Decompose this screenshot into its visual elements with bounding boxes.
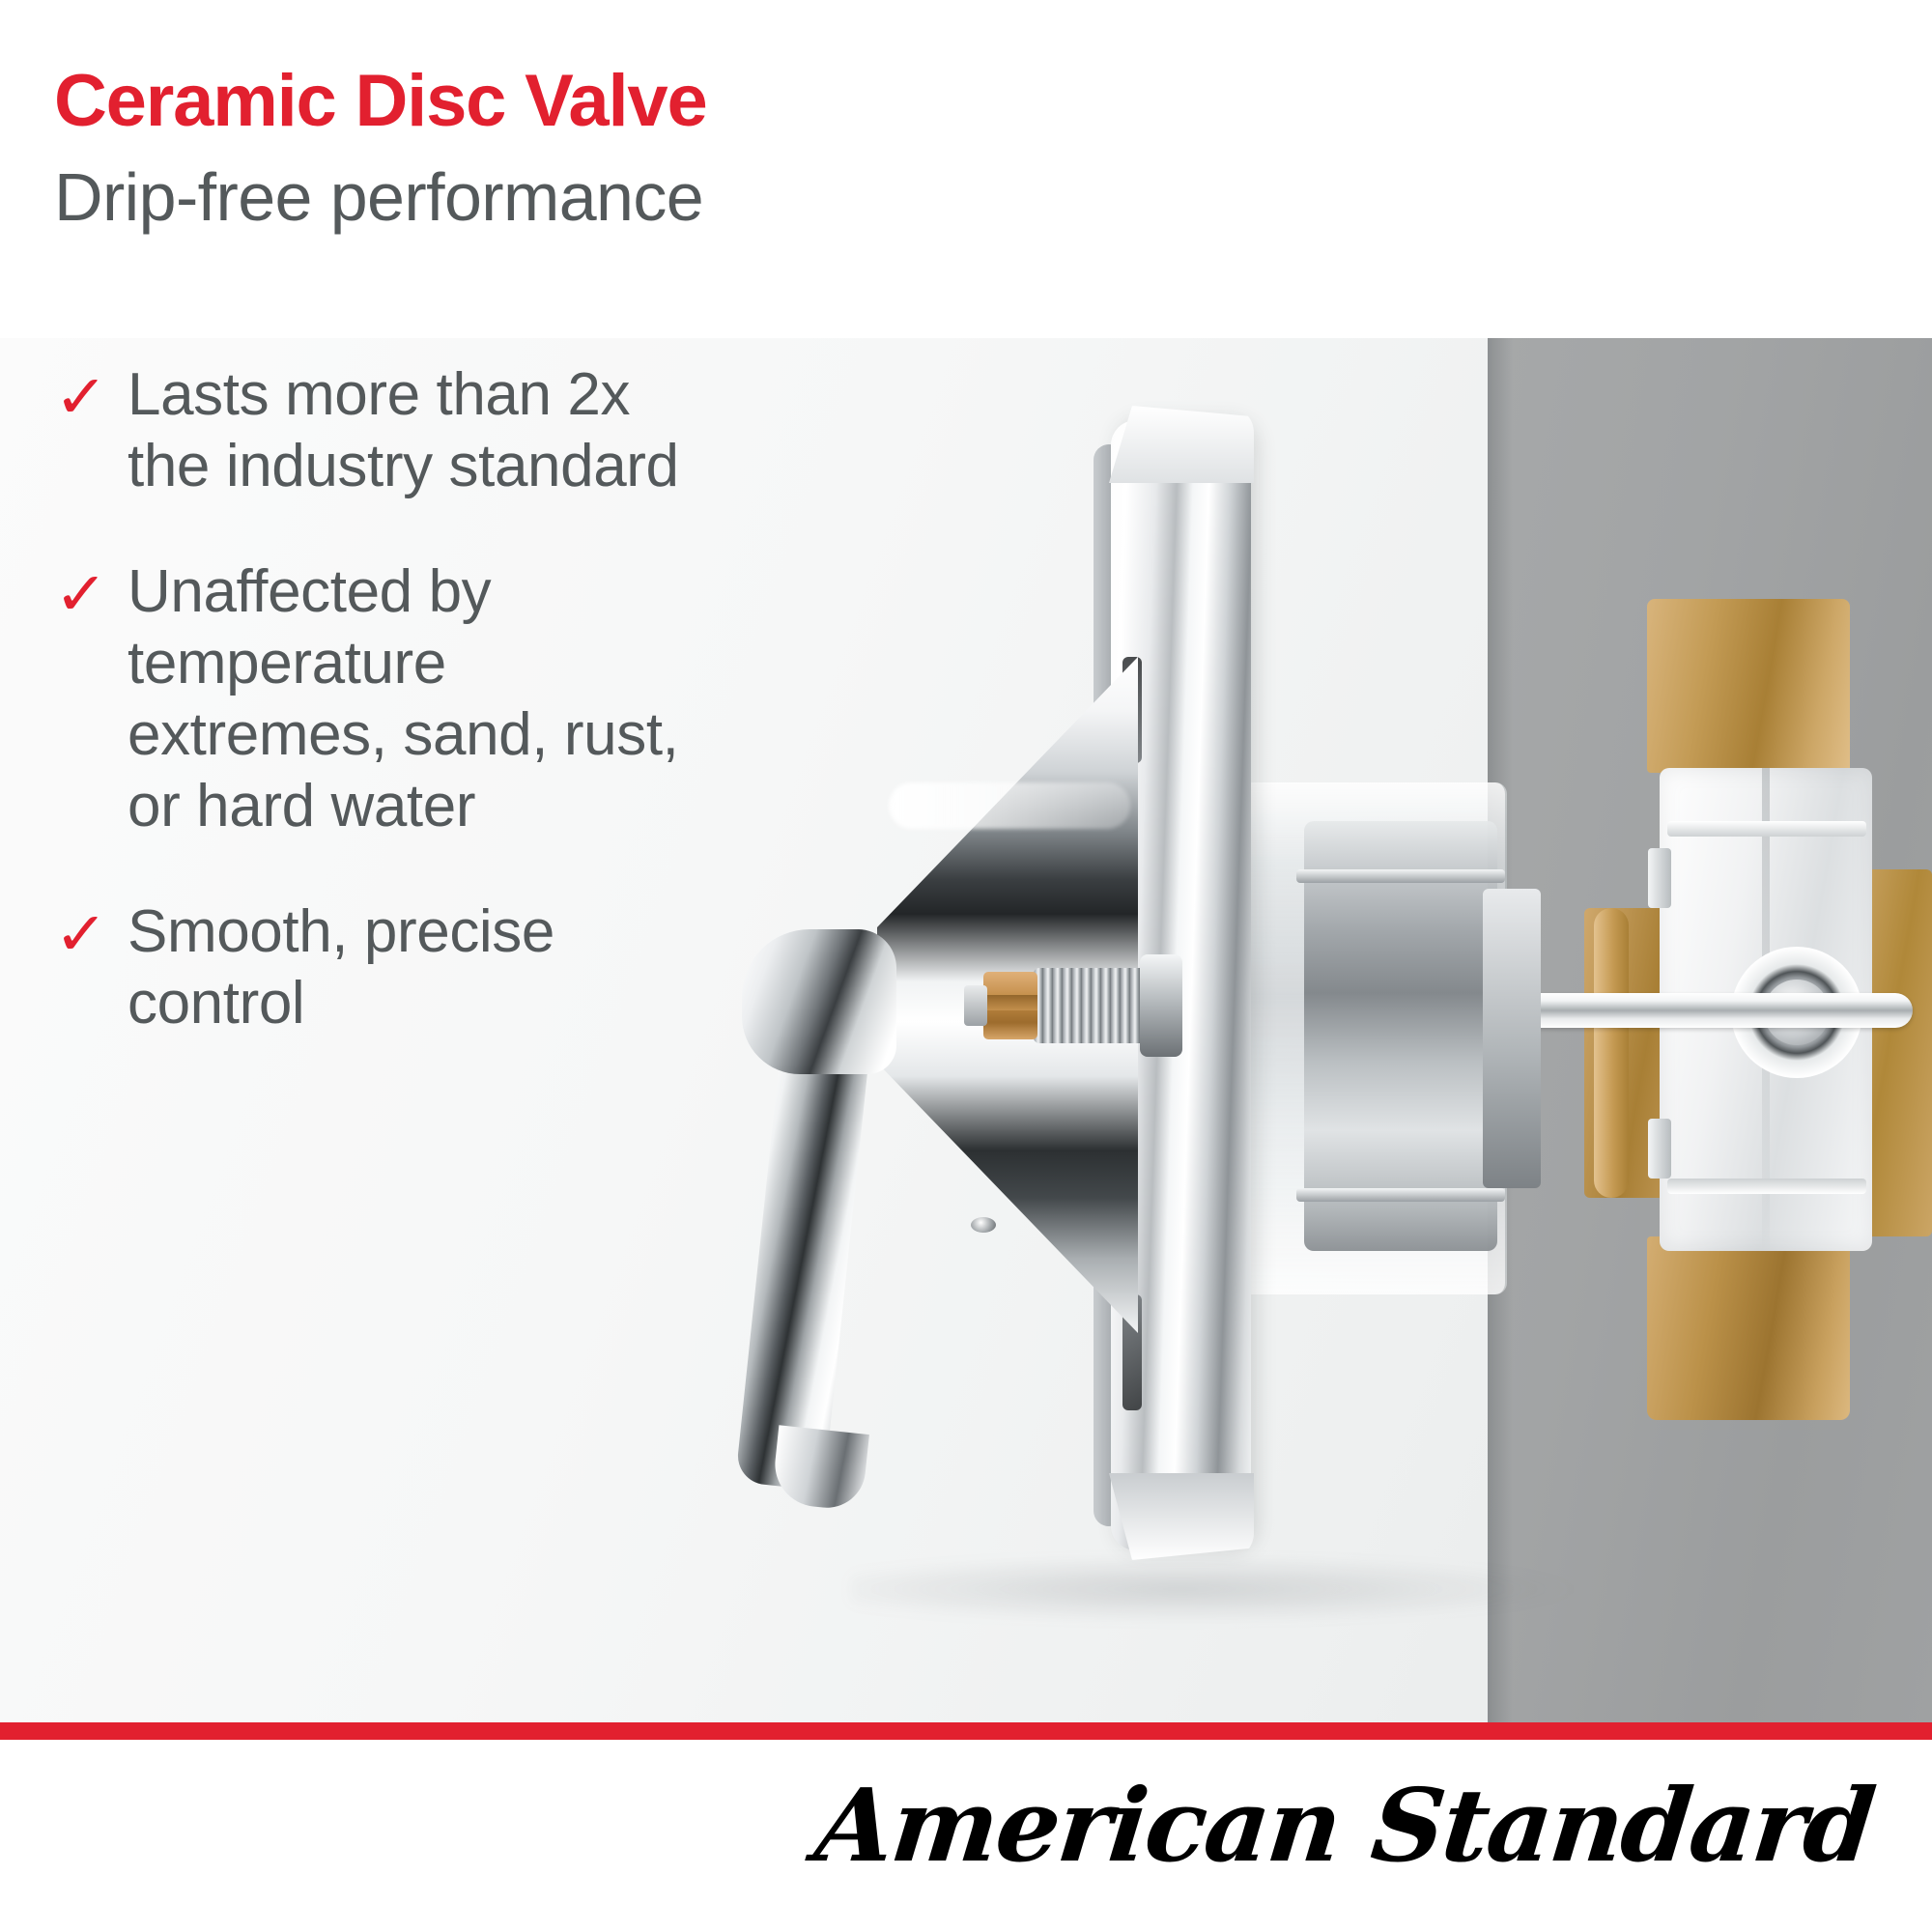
housing-fin-top [1667, 821, 1866, 837]
cartridge-band-bottom [1296, 1188, 1505, 1202]
check-icon: ✓ [54, 359, 133, 431]
housing-clip-bottom [1648, 1119, 1671, 1179]
brass-tube [1594, 908, 1629, 1198]
feature-text: Unaffected by temperature extremes, sand… [128, 556, 711, 842]
footer-band: American Standard [0, 1740, 1932, 1932]
copper-collar-groove [983, 995, 1037, 1010]
content-stage: ✓ Lasts more than 2x the industry standa… [0, 338, 1932, 1722]
divider-rule [0, 1722, 1932, 1740]
header-band: Ceramic Disc Valve Drip-free performance [0, 0, 1932, 338]
check-icon: ✓ [54, 896, 133, 968]
cartridge-band-top [1296, 869, 1505, 883]
lever-handle [734, 947, 927, 1507]
list-item: ✓ Lasts more than 2x the industry standa… [54, 359, 711, 502]
lever-tip [771, 1425, 869, 1511]
page-subtitle: Drip-free performance [54, 153, 1932, 241]
escutcheon-top-bevel [1109, 406, 1254, 483]
chrome-cross-rod [1517, 993, 1913, 1028]
lever-knuckle [742, 929, 896, 1074]
product-illustration [850, 367, 1932, 1719]
feature-list: ✓ Lasts more than 2x the industry standa… [54, 359, 711, 1094]
stem-nose [964, 985, 987, 1026]
housing-clip-top [1648, 848, 1671, 908]
escutcheon-bottom-bevel [1109, 1473, 1254, 1560]
list-item: ✓ Unaffected by temperature extremes, sa… [54, 556, 711, 842]
feature-text: Lasts more than 2x the industry standard [128, 359, 711, 502]
ceramic-disc-cartridge [1304, 821, 1497, 1251]
stem-cap [1140, 954, 1182, 1057]
brass-inlet-top [1647, 599, 1850, 773]
check-icon: ✓ [54, 556, 133, 628]
brass-inlet-bottom [1647, 1236, 1850, 1420]
housing-fin-bottom [1667, 1179, 1866, 1194]
feature-text: Smooth, precise control [128, 896, 711, 1039]
list-item: ✓ Smooth, precise control [54, 896, 711, 1039]
page-title: Ceramic Disc Valve [54, 60, 1932, 143]
brand-logo: American Standard [810, 1763, 1879, 1889]
cone-highlight [889, 782, 1130, 829]
infographic-page: Ceramic Disc Valve Drip-free performance… [0, 0, 1932, 1932]
drop-shadow [850, 1555, 1584, 1623]
set-screw-icon [971, 1217, 996, 1233]
cartridge-end-plug [1483, 889, 1541, 1188]
